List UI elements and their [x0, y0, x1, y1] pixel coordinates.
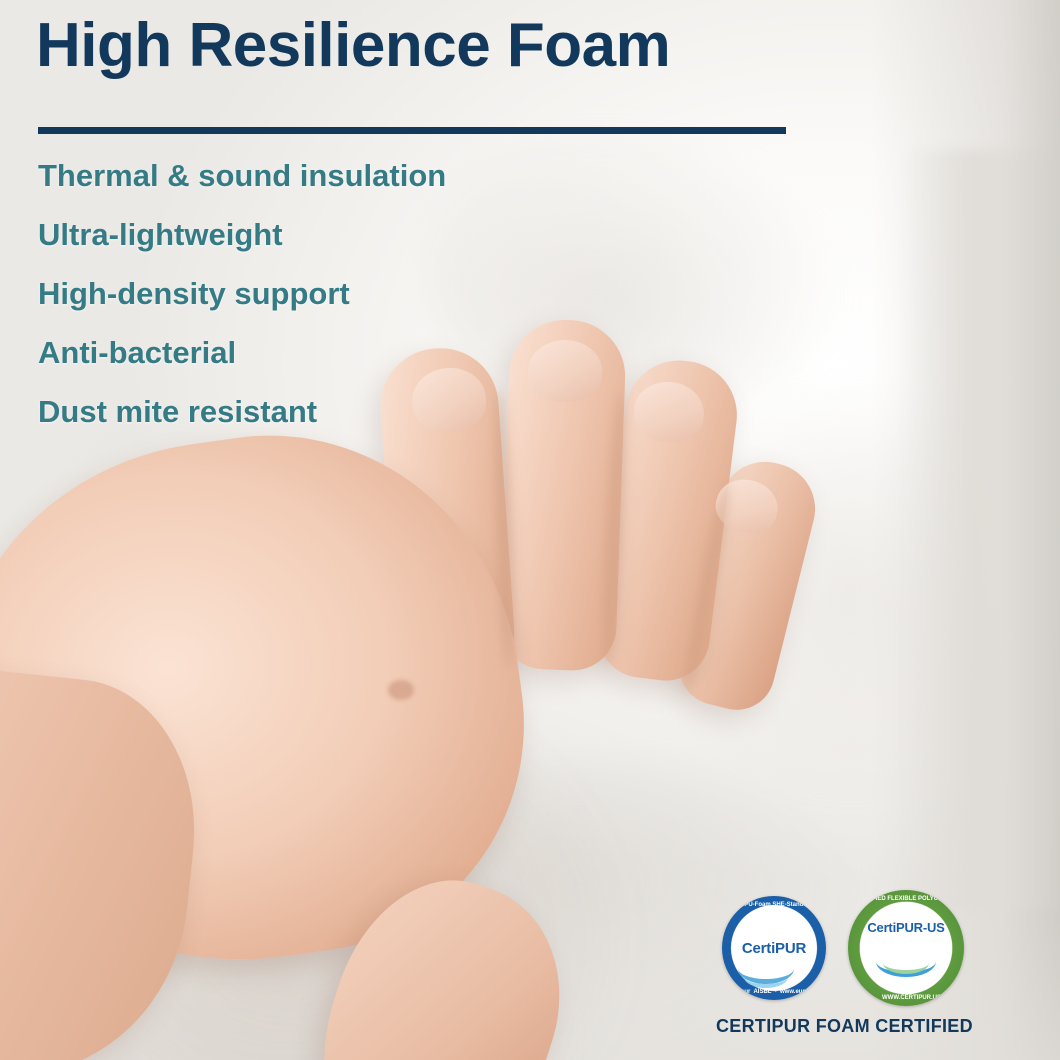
- certipur-us-badge-icon: CERTIFIED FLEXIBLE POLYURETHANE FOAM WWW…: [848, 890, 964, 1006]
- page-title: High Resilience Foam: [36, 10, 670, 81]
- title-divider: [38, 127, 786, 134]
- feature-item-5: Dust mite resistant: [38, 396, 446, 427]
- fingernail: [528, 340, 602, 402]
- certipur-us-ring-bottom-label: WWW.CERTIPUR.US: [882, 995, 941, 1001]
- product-feature-image: High Resilience Foam Thermal & sound ins…: [0, 0, 1060, 1060]
- palm-detail: [388, 680, 414, 700]
- feature-item-1: Thermal & sound insulation: [38, 160, 446, 191]
- feature-list: Thermal & sound insulation Ultra-lightwe…: [38, 160, 446, 455]
- feature-item-2: Ultra-lightweight: [38, 219, 446, 250]
- certipur-ring-bottom-label: Europur AISBL - www.europur.com: [727, 989, 826, 995]
- certipur-us-swoosh-secondary-icon: [883, 952, 929, 974]
- certification-caption: CERTIPUR FOAM CERTIFIED: [716, 1016, 973, 1037]
- feature-item-4: Anti-bacterial: [38, 337, 446, 368]
- feature-item-3: High-density support: [38, 278, 446, 309]
- certipur-swoosh-secondary-icon: [744, 966, 788, 988]
- certification-badges: The PU-Foam SHE-Standard Europur AISBL -…: [722, 896, 1022, 996]
- certipur-badge-icon: The PU-Foam SHE-Standard Europur AISBL -…: [722, 896, 826, 1000]
- certipur-us-wordmark: CertiPUR-US: [848, 920, 964, 935]
